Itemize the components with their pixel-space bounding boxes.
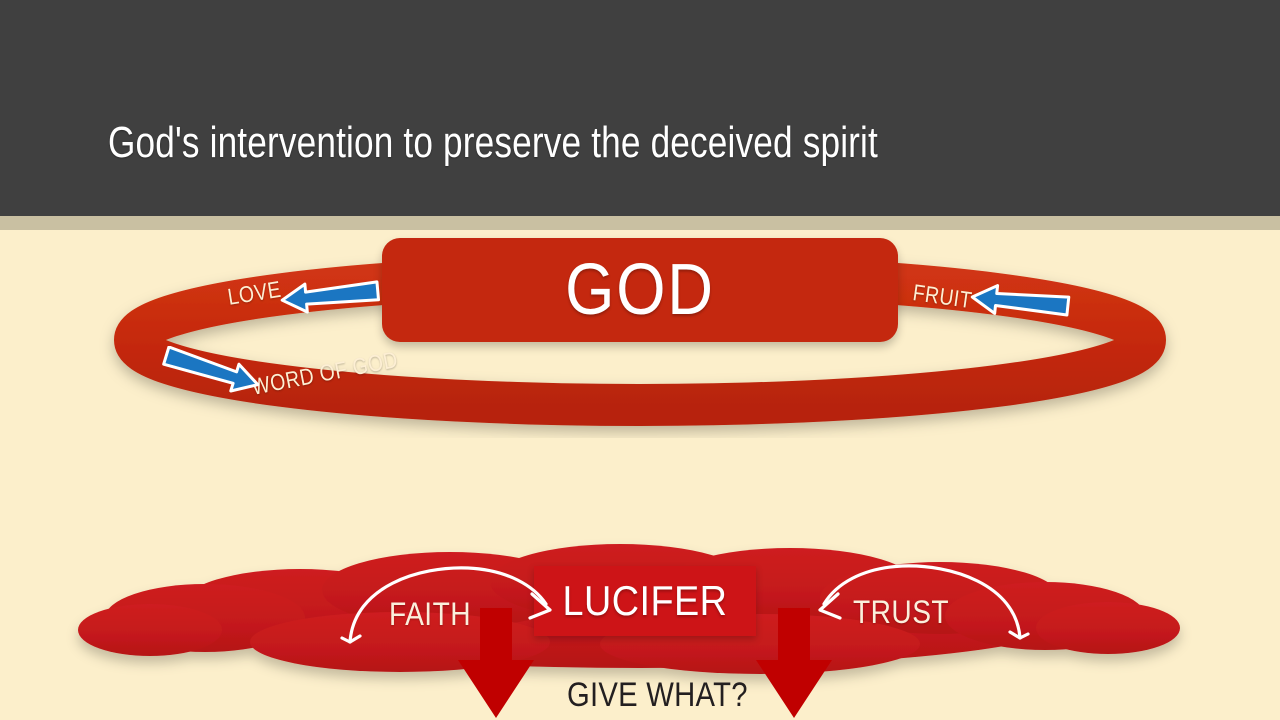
- give-what-caption: GIVE WHAT?: [567, 676, 748, 715]
- right-arrow-icon-word-of-god: [156, 346, 264, 394]
- left-arrow-icon-love: [278, 276, 382, 316]
- god-node-label: GOD: [413, 238, 867, 342]
- lucifer-node-label: LUCIFER: [545, 566, 745, 636]
- slide-canvas: God's intervention to preserve the decei…: [0, 0, 1280, 720]
- cloud-label-trust: TRUST: [853, 594, 949, 631]
- god-node[interactable]: GOD: [382, 238, 898, 342]
- title-band: [0, 0, 1280, 216]
- cloud-label-faith: FAITH: [389, 596, 471, 633]
- left-arrow-icon-fruit: [968, 282, 1072, 322]
- page-title: God's intervention to preserve the decei…: [108, 112, 948, 174]
